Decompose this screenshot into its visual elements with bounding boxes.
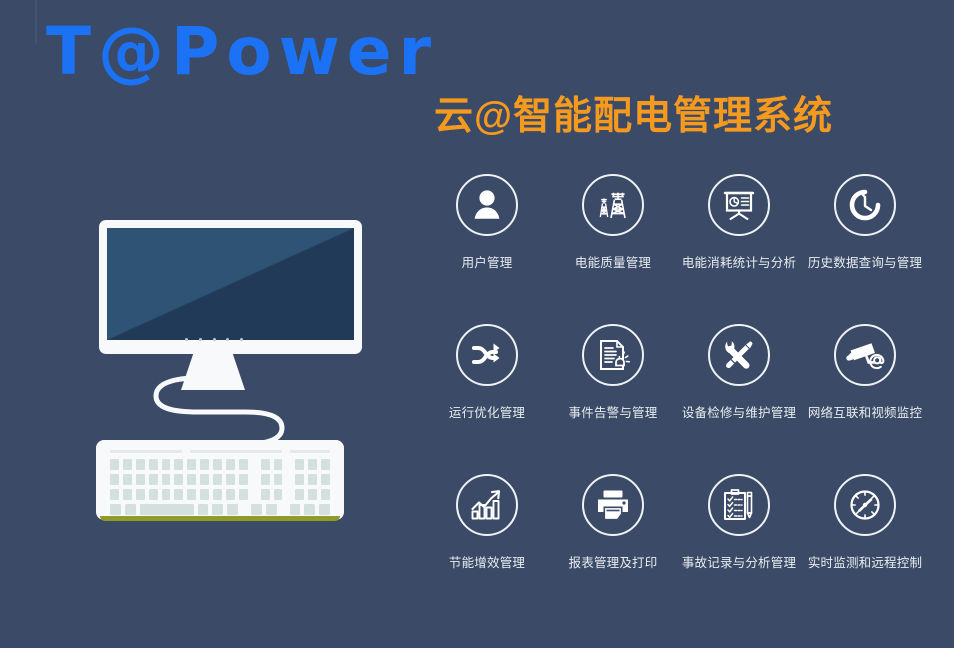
keyboard-base-edge (100, 516, 340, 521)
history-clock-icon (834, 174, 896, 236)
feature-item-energy-saving[interactable]: 节能增效管理 (424, 468, 550, 618)
feature-item-maintenance[interactable]: 设备检修与维护管理 (676, 318, 802, 468)
feature-label: 事件告警与管理 (569, 402, 658, 421)
presentation-chart-icon (708, 174, 770, 236)
printer-icon (582, 474, 644, 536)
feature-label: 运行优化管理 (449, 402, 525, 421)
feature-label: 设备检修与维护管理 (682, 402, 796, 421)
feature-item-incident-record[interactable]: 事故记录与分析管理 (676, 468, 802, 618)
user-icon (456, 174, 518, 236)
power-tower-icon (582, 174, 644, 236)
feature-label: 事故记录与分析管理 (682, 552, 796, 571)
feature-label: 电能质量管理 (575, 252, 651, 271)
keyboard (96, 440, 344, 520)
feature-item-report-print[interactable]: 报表管理及打印 (550, 468, 676, 618)
feature-item-power-quality[interactable]: 电能质量管理 (550, 168, 676, 318)
brand-subtitle: 云@智能配电管理系统 (434, 96, 833, 139)
keyboard-top-strips (110, 450, 330, 453)
monitor-screen (107, 228, 354, 340)
document-alarm-icon (582, 324, 644, 386)
monitor-frame (99, 220, 362, 354)
feature-item-user-management[interactable]: 用户管理 (424, 168, 550, 318)
wrench-screwdriver-icon (708, 324, 770, 386)
feature-item-event-alarm[interactable]: 事件告警与管理 (550, 318, 676, 468)
feature-item-history-data[interactable]: 历史数据查询与管理 (802, 168, 928, 318)
background-artifact-line (35, 0, 37, 44)
feature-label: 报表管理及打印 (569, 552, 658, 571)
feature-label: 历史数据查询与管理 (808, 252, 922, 271)
growth-bar-chart-icon (456, 474, 518, 536)
keyboard-key-grid (110, 459, 330, 519)
feature-label: 节能增效管理 (449, 552, 525, 571)
desktop-computer-illustration (80, 196, 400, 546)
cctv-camera-at-icon (834, 324, 896, 386)
feature-item-operation-optimization[interactable]: 运行优化管理 (424, 318, 550, 468)
shuffle-arrows-icon (456, 324, 518, 386)
feature-label: 实时监测和远程控制 (808, 552, 922, 571)
feature-label: 网络互联和视频监控 (808, 402, 922, 421)
feature-item-consumption-analysis[interactable]: 电能消耗统计与分析 (676, 168, 802, 318)
feature-grid: 用户管理 (424, 168, 928, 618)
feature-label: 电能消耗统计与分析 (682, 252, 796, 271)
brand-title: T@Power (46, 14, 438, 90)
feature-item-network-video[interactable]: 网络互联和视频监控 (802, 318, 928, 468)
feature-item-realtime-monitor[interactable]: 实时监测和远程控制 (802, 468, 928, 618)
feature-label: 用户管理 (462, 252, 513, 271)
monitor-indicator-dots (185, 338, 243, 342)
gauge-meter-icon (834, 474, 896, 536)
clipboard-pen-icon (708, 474, 770, 536)
